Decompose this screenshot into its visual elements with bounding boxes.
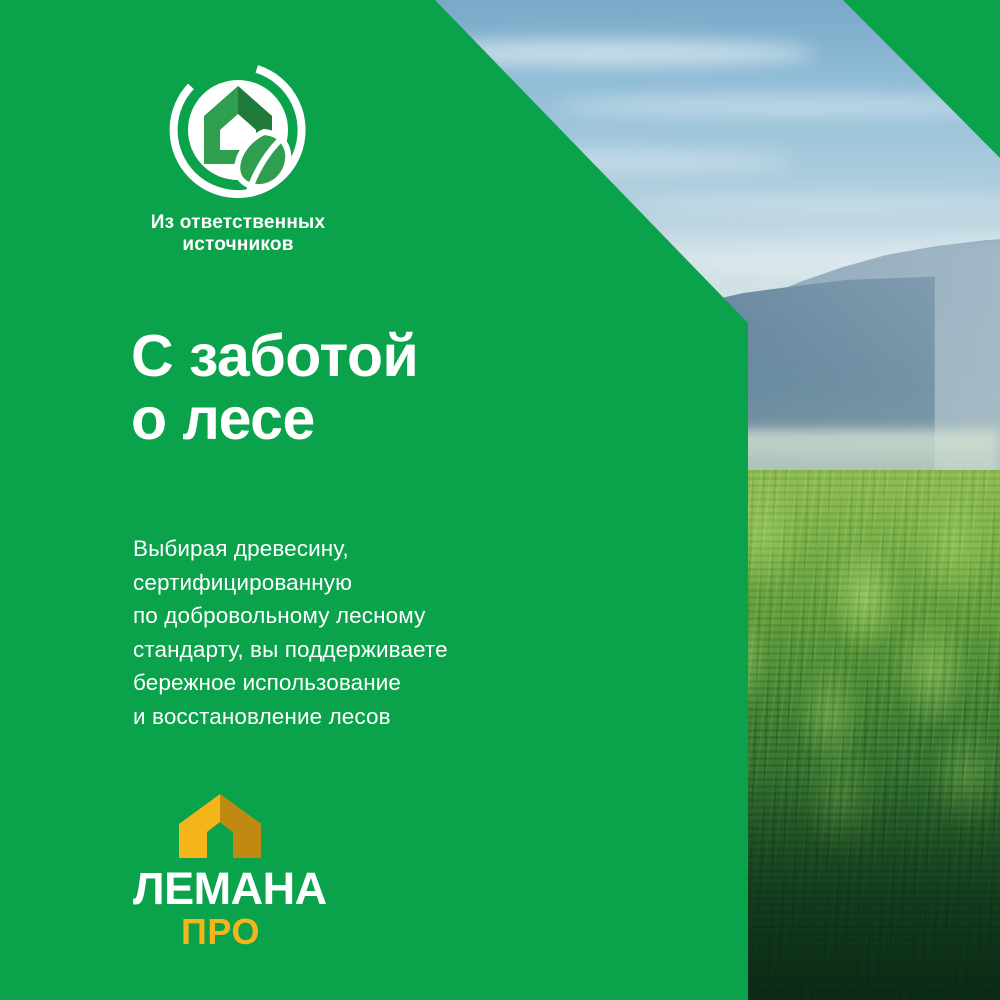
- badge-caption: Из ответственных источников: [133, 212, 343, 257]
- lemana-house-icon: [177, 792, 263, 860]
- page-title: С заботой о лесе: [131, 325, 418, 451]
- poster-root: Из ответственных источников С заботой о …: [0, 0, 1000, 1000]
- brand-lockup: ЛЕМАНА ПРО: [133, 792, 333, 950]
- responsible-sources-roundel-icon: [168, 60, 308, 200]
- responsible-sources-badge: Из ответственных источников: [133, 60, 343, 257]
- poster-content: Из ответственных источников С заботой о …: [0, 0, 748, 1000]
- brand-name: ЛЕМАНА: [133, 866, 333, 911]
- body-copy: Выбирая древесину, сертифицированную по …: [133, 532, 448, 733]
- brand-subname: ПРО: [133, 914, 308, 950]
